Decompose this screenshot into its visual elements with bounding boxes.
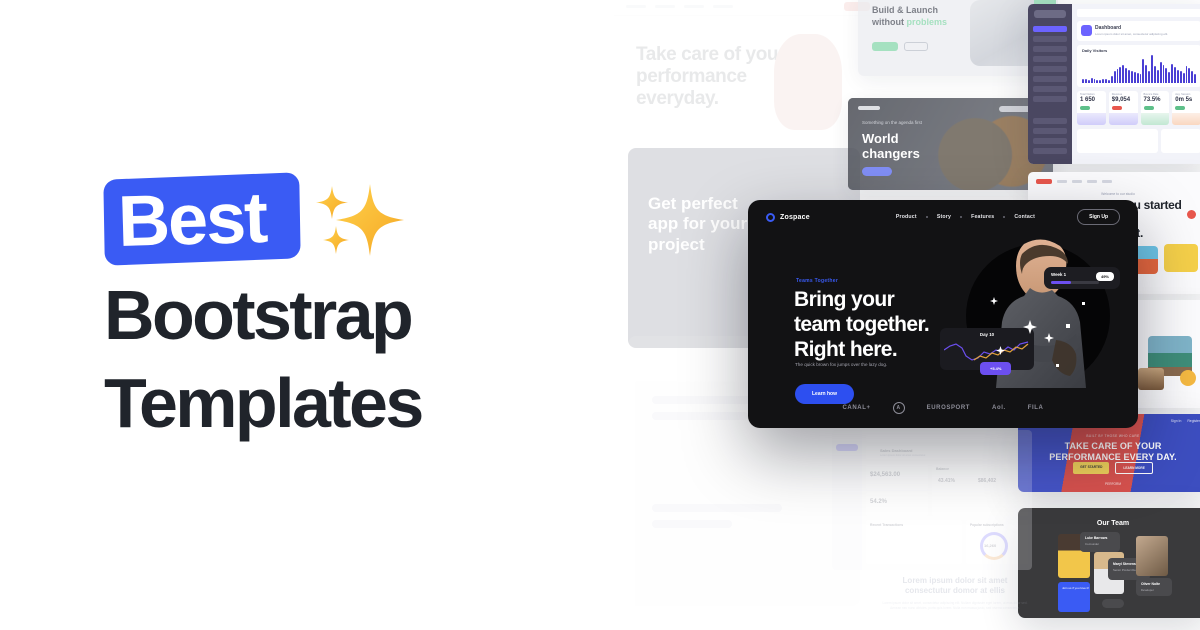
template-card-admin-dashboard[interactable]: Dashboard Lorem ipsum dolor sit amet, co… — [1028, 4, 1200, 164]
sparkle-square-icon — [1082, 302, 1085, 305]
hero-day-label: Day 10 — [980, 332, 994, 337]
hero-brand-row: CANAL+ A EUROSPORT Aol. FILA — [748, 402, 1138, 414]
team-more-button[interactable] — [1102, 599, 1124, 608]
admin-logo — [1034, 10, 1066, 18]
sparkle-accent-icon — [990, 292, 998, 310]
admin-stat-card: Total Visitors 1 650 — [1077, 91, 1106, 125]
chart-bar — [1128, 70, 1130, 83]
admin-stat-value: 1 650 — [1080, 97, 1095, 103]
sales-topbar[interactable] — [866, 435, 1028, 442]
admin-sidebar-item-inbox[interactable] — [1033, 36, 1067, 42]
team-member-role: Co-founder — [1085, 542, 1099, 546]
admin-stat-card: Bounce Rate 73.5% — [1141, 91, 1170, 125]
template-collage: Take care of your performance everyday. … — [600, 0, 1200, 630]
admin-sidebar-item-storage[interactable] — [1033, 138, 1067, 144]
admin-stat-label: Revenue — [1112, 93, 1122, 96]
chart-bar — [1102, 79, 1104, 83]
perf-footer-logo: PERFORM — [1018, 482, 1200, 486]
admin-stat-chip — [1112, 106, 1122, 110]
ghost-figure — [774, 34, 842, 130]
sales-page-sub: Lorem ipsum dolor sit amet consectetur. — [880, 454, 926, 457]
hero-signup-button[interactable]: Sign Up — [1077, 209, 1120, 225]
world-eyebrow: Something on the agenda first — [862, 120, 922, 125]
admin-sidebar-item-documents[interactable] — [1033, 56, 1067, 62]
perf-eyebrow: BUILT BY THOSE WHO CARE — [1018, 434, 1200, 438]
chart-bar — [1082, 79, 1084, 83]
gallery-dot-yellow — [1180, 370, 1196, 386]
hero-headline: Bring your team together. Right here. — [794, 288, 929, 362]
hero-nav-links: Product Story Features Contact — [896, 214, 1035, 220]
hero-cta-button[interactable]: Learn how — [795, 384, 854, 404]
admin-topbar[interactable] — [1077, 9, 1200, 17]
admin-stat-sparkline — [1077, 113, 1106, 125]
chart-bar — [1186, 66, 1188, 83]
finish-logo — [1036, 179, 1052, 184]
chart-bar — [1108, 80, 1110, 83]
perf-nav-register[interactable]: Register — [1187, 419, 1200, 423]
chart-bar — [1125, 68, 1127, 83]
admin-stat-sparkline — [1141, 113, 1170, 125]
admin-stat-sparkline — [1172, 113, 1200, 125]
brand-eurosport: EUROSPORT — [927, 405, 970, 411]
perf-buttons: GET STARTED LEARN MORE — [1018, 462, 1200, 474]
admin-stat-label: Total Visitors — [1080, 93, 1095, 96]
build-cta-primary[interactable] — [872, 42, 898, 51]
ghost-nav — [614, 0, 882, 16]
chart-bar — [1094, 79, 1096, 83]
best-word: Best — [117, 182, 267, 258]
chart-bar — [1091, 78, 1093, 83]
hero-eyebrow: Teams Together — [796, 278, 838, 284]
admin-stat-label: Avg. Session — [1175, 93, 1190, 96]
admin-body: Dashboard Lorem ipsum dolor sit amet, co… — [1072, 4, 1200, 164]
admin-page-icon — [1081, 25, 1092, 36]
nav-dot-icon — [926, 216, 928, 218]
admin-sidebar-item-dashboard[interactable] — [1033, 26, 1067, 32]
team-member-name: Oliver Nolte — [1141, 582, 1160, 586]
chart-bar — [1171, 64, 1173, 83]
chart-bar — [1085, 79, 1087, 83]
sales-page-title: Sales Dashboard — [880, 448, 912, 453]
chart-bar — [1131, 71, 1133, 83]
chart-bar — [1114, 71, 1116, 83]
chart-bar — [1119, 67, 1121, 83]
world-logo — [858, 106, 880, 110]
page-title: Best Bootstrap Templates — [104, 168, 624, 438]
chart-bar — [1163, 65, 1165, 83]
chart-bar — [1157, 70, 1159, 83]
hero-logo-name: Zospace — [780, 214, 810, 221]
perf-title: TAKE CARE OF YOUR PERFORMANCE EVERY DAY. — [1030, 441, 1196, 464]
lorem-title: Lorem ipsum dolor sit amet consectutur d… — [860, 576, 1050, 597]
sales-balance-panel: Balance 43.41% $86,402 — [932, 464, 1028, 516]
perf-cta-secondary[interactable]: LEARN MORE — [1115, 462, 1152, 474]
brand-circle-icon: A — [893, 402, 905, 414]
sales-panel-v2: $86,402 — [978, 478, 996, 484]
team-photo-3 — [1136, 536, 1168, 576]
finish-eyebrow: Welcome to our studio — [1028, 192, 1200, 196]
team-name-card-3: Oliver Nolte Developer — [1136, 578, 1172, 596]
chart-bar — [1168, 72, 1170, 83]
chart-bar — [1194, 74, 1196, 83]
build-title: Build & Launch without problems — [872, 4, 947, 28]
admin-lower-row — [1077, 129, 1200, 153]
perf-nav[interactable]: Sign In Register — [1171, 419, 1200, 423]
sales-page-header: Sales Dashboard Lorem ipsum dolor sit am… — [866, 446, 1028, 460]
admin-stat-value: 0m 5s — [1175, 97, 1192, 103]
hero-week-widget: Week 1 49% — [1044, 267, 1120, 289]
admin-sidebar-item-reports[interactable] — [1033, 76, 1067, 82]
hero-nav-contact[interactable]: Contact — [1014, 214, 1035, 220]
hero-nav-story[interactable]: Story — [937, 214, 951, 220]
chart-bar — [1137, 73, 1139, 83]
admin-sidebar[interactable] — [1028, 4, 1072, 164]
admin-page-title: Dashboard — [1095, 25, 1121, 31]
sales-panel-v1: 43.41% — [938, 478, 955, 484]
admin-product-sales-panel — [1077, 129, 1158, 153]
admin-stat-card: Avg. Session 0m 5s — [1172, 91, 1200, 125]
sales-metric-card: $24,563.00 — [866, 464, 928, 490]
admin-visitors-chart: Daily Visitors — [1077, 45, 1200, 87]
sparkle-accent-icon — [1023, 320, 1037, 339]
hero-week-percent: 49% — [1096, 272, 1114, 281]
template-card-sales-dashboard[interactable]: Sales Dashboard Lorem ipsum dolor sit am… — [832, 430, 1032, 570]
admin-stat-sparkline — [1109, 113, 1138, 125]
chart-bar — [1188, 68, 1190, 83]
chart-bar — [1145, 65, 1147, 83]
sales-metric-value-2: 54.2% — [870, 499, 887, 505]
team-tile-join[interactable]: Join us if you love it! — [1058, 582, 1090, 612]
admin-page-header: Dashboard Lorem ipsum dolor sit amet, co… — [1077, 21, 1200, 41]
sparkles-icon — [310, 178, 410, 262]
chart-bar — [1142, 59, 1144, 83]
template-card-lorem: Lorem ipsum dolor sit amet consectutur d… — [860, 576, 1050, 626]
admin-stat-value: $9,054 — [1112, 97, 1130, 103]
chart-bar — [1148, 71, 1150, 83]
ghost-app-title: Get perfect app for your project — [648, 194, 747, 255]
sparkle-square-icon — [1066, 324, 1070, 328]
chart-bar — [1191, 71, 1193, 83]
sales-donut-value: 16,260 — [984, 543, 996, 548]
sparkle-accent-icon — [996, 342, 1005, 360]
team-member-name: Luke Barrows — [1085, 536, 1107, 540]
admin-sidebar-item-settings[interactable] — [1033, 148, 1067, 154]
sales-transactions-table: Recent Transactions — [866, 520, 962, 564]
team-member-role: Developer — [1141, 588, 1154, 592]
chart-bar — [1140, 74, 1142, 83]
hero-subtext: The quick brown fox jumps over the lazy … — [795, 362, 887, 367]
team-name-card-1: Luke Barrows Co-founder — [1080, 532, 1120, 552]
admin-stat-chip — [1144, 106, 1154, 110]
admin-sidebar-item-pages[interactable] — [1033, 96, 1067, 102]
admin-sidebar-item-projects[interactable] — [1033, 46, 1067, 52]
admin-chart-bars — [1082, 55, 1196, 83]
sparkle-square-icon — [1056, 364, 1059, 367]
admin-stat-chip — [1080, 106, 1090, 110]
lorem-paragraph: Lorem ipsum dolor sit amet, consectetur … — [860, 601, 1050, 611]
template-card-world-changers[interactable]: Something on the agenda first World chan… — [848, 98, 1053, 190]
finish-nav[interactable] — [1036, 178, 1200, 184]
headline: Bootstrap Templates — [104, 280, 624, 438]
chart-bar — [1111, 76, 1113, 83]
team-title: Our Team — [1018, 520, 1200, 527]
chart-bar — [1134, 72, 1136, 83]
team-tile-text: Join us if you love it! — [1062, 587, 1089, 591]
brand-fila: FILA — [1028, 405, 1044, 411]
sales-sidebar-active[interactable] — [836, 444, 858, 451]
admin-page-sub: Lorem ipsum dolor sit amet, consectetur … — [1095, 32, 1168, 36]
perf-cta-primary[interactable]: GET STARTED — [1073, 462, 1109, 474]
brand-canal-plus: CANAL+ — [843, 405, 871, 411]
admin-stat-value: 73.5% — [1144, 97, 1161, 103]
nav-dot-icon — [1003, 216, 1005, 218]
world-cta[interactable] — [862, 167, 892, 176]
hero-week-label: Week 1 — [1051, 272, 1066, 277]
chart-bar — [1099, 80, 1101, 83]
chart-bar — [1096, 80, 1098, 83]
admin-sidebar-item-calendar[interactable] — [1033, 66, 1067, 72]
perf-nav-signin[interactable]: Sign In — [1171, 419, 1182, 423]
sales-metric-value: $24,563.00 — [870, 472, 900, 478]
admin-stat-row: Total Visitors 1 650 Revenue $9,054 Boun… — [1077, 91, 1200, 125]
nav-dot-icon — [960, 216, 962, 218]
hero-template-card[interactable]: Zospace Product Story Features Contact S… — [748, 200, 1138, 428]
admin-sidebar-item-support[interactable] — [1033, 118, 1067, 124]
chart-bar — [1183, 73, 1185, 83]
hero-week-progressbar — [1051, 281, 1099, 284]
best-row: Best — [104, 168, 624, 270]
hero-logo[interactable]: Zospace — [766, 213, 810, 222]
chart-bar — [1117, 69, 1119, 83]
sales-table-title: Recent Transactions — [870, 523, 903, 527]
admin-sidebar-item-users[interactable] — [1033, 86, 1067, 92]
chart-bar — [1088, 80, 1090, 83]
sales-donut-panel: Popular subscriptions 16,260 — [966, 520, 1028, 564]
zospace-logo-icon — [766, 213, 775, 222]
hero-navbar: Zospace Product Story Features Contact S… — [748, 200, 1138, 234]
poster-canvas: Best Bootstrap Templates — [0, 0, 1200, 630]
sales-sidebar[interactable] — [832, 430, 862, 570]
admin-chart-title: Daily Visitors — [1082, 48, 1107, 53]
admin-task-overview-panel — [1161, 129, 1200, 153]
headline-line-1: Bootstrap — [104, 276, 411, 354]
chart-bar — [1180, 71, 1182, 83]
hero-nav-features[interactable]: Features — [971, 214, 994, 220]
gallery-thumb-small — [1138, 368, 1164, 390]
sparkle-accent-icon — [1044, 330, 1054, 348]
hero-day-badge: +5.4% — [980, 362, 1011, 375]
chart-bar — [1105, 79, 1107, 83]
brand-aol: Aol. — [992, 405, 1006, 411]
headline-line-2: Templates — [104, 368, 624, 438]
admin-stat-label: Bounce Rate — [1144, 93, 1159, 96]
admin-sidebar-item-help[interactable] — [1033, 128, 1067, 134]
chart-bar — [1154, 66, 1156, 83]
finish-thumb-b — [1164, 244, 1198, 272]
chart-bar — [1177, 70, 1179, 83]
sales-donut-title: Popular subscriptions — [970, 523, 1004, 527]
chart-bar — [1160, 62, 1162, 83]
sales-panel-title: Balance — [936, 467, 949, 471]
admin-stat-card: Revenue $9,054 — [1109, 91, 1138, 125]
chart-bar — [1122, 65, 1124, 83]
chart-bar — [1165, 68, 1167, 83]
hero-nav-product[interactable]: Product — [896, 214, 917, 220]
sales-metric-card-2: 54.2% — [866, 492, 928, 516]
chart-bar — [1151, 55, 1153, 83]
chart-bar — [1174, 67, 1176, 83]
world-title: World changers — [862, 132, 920, 162]
build-cta-secondary[interactable] — [904, 42, 928, 51]
admin-stat-chip — [1175, 106, 1185, 110]
